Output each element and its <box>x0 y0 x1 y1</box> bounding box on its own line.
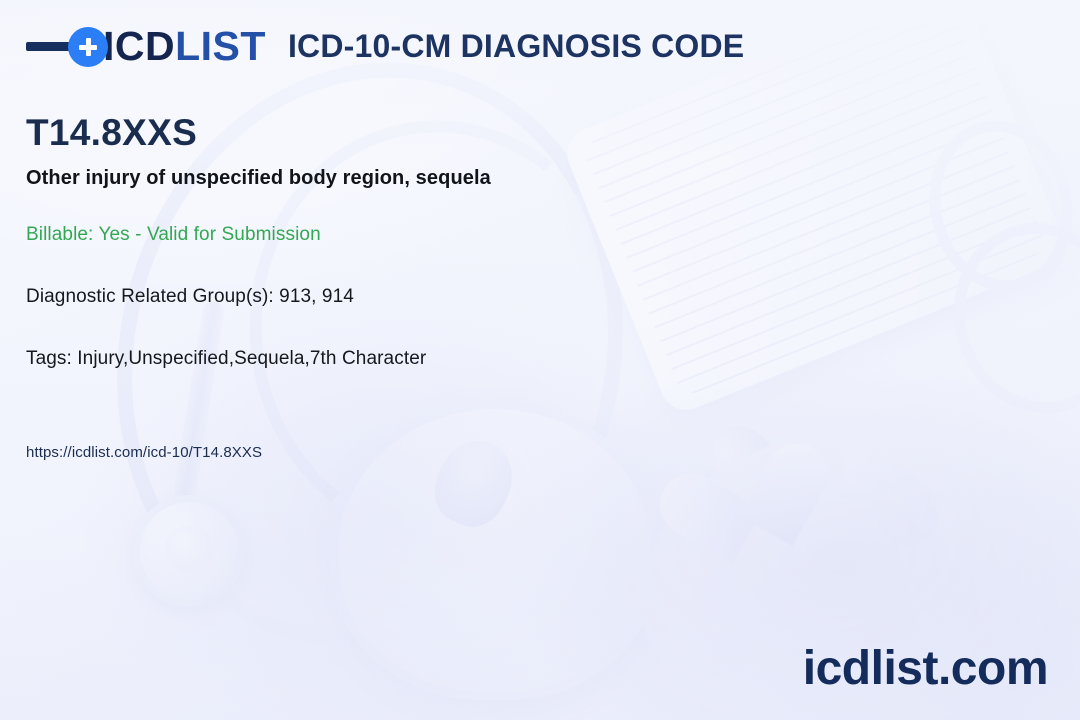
logo-text-icd: ICD <box>103 26 175 67</box>
diagnosis-description: Other injury of unspecified body region,… <box>26 167 491 190</box>
tag-list: Tags: Injury,Unspecified,Sequela,7th Cha… <box>26 348 426 370</box>
page-title: ICD-10-CM DIAGNOSIS CODE <box>288 28 744 65</box>
source-url[interactable]: https://icdlist.com/icd-10/T14.8XXS <box>26 444 262 461</box>
card-header: ICD LIST ICD-10-CM DIAGNOSIS CODE <box>26 26 744 67</box>
icdlist-logo[interactable]: ICD LIST <box>26 26 266 67</box>
diagnosis-code: T14.8XXS <box>26 112 197 154</box>
drg-list: Diagnostic Related Group(s): 913, 914 <box>26 286 354 308</box>
icd-code-card: ICD LIST ICD-10-CM DIAGNOSIS CODE T14.8X… <box>0 0 1080 720</box>
billable-status: Billable: Yes - Valid for Submission <box>26 224 321 246</box>
card-content: ICD LIST ICD-10-CM DIAGNOSIS CODE T14.8X… <box>0 0 1080 720</box>
logo-text-list: LIST <box>175 26 266 67</box>
site-branding: icdlist.com <box>803 641 1048 696</box>
plus-circle-icon <box>68 27 108 67</box>
dash-icon <box>26 42 72 51</box>
